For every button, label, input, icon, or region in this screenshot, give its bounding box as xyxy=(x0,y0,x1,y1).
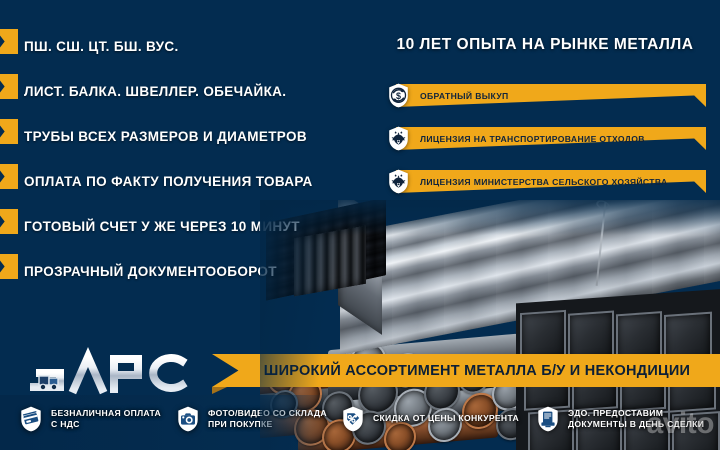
assortment-banner: ШИРОКИЙ АССОРТИМЕНТ МЕТАЛЛА Б/У И НЕКОНД… xyxy=(212,354,720,387)
footer-item-text: ФОТО/ВИДЕО СО СКЛАДА ПРИ ПОКУПКЕ xyxy=(208,408,327,431)
ribbon-marker-icon xyxy=(0,29,18,54)
ribbon-marker-icon xyxy=(0,74,18,99)
list-item: ТРУБЫ ВСЕХ РАЗМЕРОВ И ДИАМЕТРОВ xyxy=(0,114,360,159)
discount-tag-icon xyxy=(340,406,366,432)
feature-bullet-list: ПШ. СШ. ЦТ. БШ. ВУС. ЛИСТ. БАЛКА. ШВЕЛЛЕ… xyxy=(0,24,360,294)
footer-line-1: СКИДКА ОТ ЦЕНЫ КОНКУРЕНТА xyxy=(373,413,519,423)
footer-line-1: ЭДО. ПРЕДОСТАВИМ xyxy=(568,408,663,418)
bullet-label: ПШ. СШ. ЦТ. БШ. ВУС. xyxy=(24,39,179,54)
bullet-label: ГОТОВЫЙ СЧЕТ У ЖЕ ЧЕРЕЗ 10 МИНУТ xyxy=(24,219,300,234)
list-item: ГОТОВЫЙ СЧЕТ У ЖЕ ЧЕРЕЗ 10 МИНУТ xyxy=(0,204,360,249)
ribbon-fold xyxy=(694,193,706,199)
certificate-label: ЛИЦЕНЗИЯ МИНИСТЕРСТВА СЕЛЬСКОГО ХОЗЯЙСТВ… xyxy=(420,177,668,187)
double-headed-eagle-emblem-icon xyxy=(386,126,411,151)
list-item: ОПЛАТА ПО ФАКТУ ПОЛУЧЕНИЯ ТОВАРА xyxy=(0,159,360,204)
footer-line-1: БЕЗНАЛИЧНАЯ ОПЛАТА xyxy=(51,408,161,418)
footer-item-photo-video: ФОТО/ВИДЕО СО СКЛАДА ПРИ ПОКУПКЕ xyxy=(175,406,327,432)
page-title: 10 ЛЕТ ОПЫТА НА РЫНКЕ МЕТАЛЛА xyxy=(380,36,710,54)
footer-item-edoc: ЭДО. ПРЕДОСТАВИМ ДОКУМЕНТЫ В ДЕНЬ СДЕЛКИ xyxy=(535,406,704,432)
double-headed-eagle-emblem-icon xyxy=(386,169,411,194)
ribbon-marker-icon xyxy=(0,164,18,189)
advertisement-banner: ПШ. СШ. ЦТ. БШ. ВУС. ЛИСТ. БАЛКА. ШВЕЛЛЕ… xyxy=(0,0,720,450)
list-item: ПШ. СШ. ЦТ. БШ. ВУС. xyxy=(0,24,360,69)
bullet-label: ЛИСТ. БАЛКА. ШВЕЛЛЕР. ОБЕЧАЙКА. xyxy=(24,84,286,99)
footer-item-text: СКИДКА ОТ ЦЕНЫ КОНКУРЕНТА xyxy=(373,413,519,425)
certificate-badge-agriculture-ministry: ЛИЦЕНЗИЯ МИНИСТЕРСТВА СЕЛЬСКОГО ХОЗЯЙСТВ… xyxy=(386,170,706,193)
footer-benefits: БЕЗНАЛИЧНАЯ ОПЛАТА С НДС ФОТО/ВИДЕО СО С… xyxy=(0,395,720,450)
certificate-badge-waste-transport: ЛИЦЕНЗИЯ НА ТРАНСПОРТИРОВАНИЕ ОТХОДОВ xyxy=(386,127,706,150)
brand-logo: БАРС xyxy=(22,347,194,397)
svg-text:$: $ xyxy=(396,91,401,101)
bullet-label: ОПЛАТА ПО ФАКТУ ПОЛУЧЕНИЯ ТОВАРА xyxy=(24,174,313,189)
ribbon-fold xyxy=(694,150,706,156)
ribbon-marker-icon xyxy=(0,254,18,279)
certificate-badge-list: $ ОБРАТНЫЙ ВЫКУП xyxy=(386,84,706,213)
credit-card-icon xyxy=(18,406,44,432)
ribbon-fold xyxy=(694,107,706,113)
footer-item-competitor-discount: СКИДКА ОТ ЦЕНЫ КОНКУРЕНТА xyxy=(340,406,519,432)
footer-item-text: ЭДО. ПРЕДОСТАВИМ ДОКУМЕНТЫ В ДЕНЬ СДЕЛКИ xyxy=(568,408,704,431)
list-item: ЛИСТ. БАЛКА. ШВЕЛЛЕР. ОБЕЧАЙКА. xyxy=(0,69,360,114)
footer-item-text: БЕЗНАЛИЧНАЯ ОПЛАТА С НДС xyxy=(51,408,161,431)
footer-line-1: ФОТО/ВИДЕО СО СКЛАДА xyxy=(208,408,327,418)
ribbon-marker-icon xyxy=(0,209,18,234)
certificate-badge-buyback: $ ОБРАТНЫЙ ВЫКУП xyxy=(386,84,706,107)
footer-item-cashless-payment: БЕЗНАЛИЧНАЯ ОПЛАТА С НДС xyxy=(18,406,161,432)
buyback-refresh-dollar-icon: $ xyxy=(386,83,411,108)
ribbon-marker-icon xyxy=(0,119,18,144)
footer-line-2: С НДС xyxy=(51,419,80,429)
footer-line-2: ДОКУМЕНТЫ В ДЕНЬ СДЕЛКИ xyxy=(568,419,704,429)
footer-line-2: ПРИ ПОКУПКЕ xyxy=(208,419,273,429)
bullet-label: ПРОЗРАЧНЫЙ ДОКУМЕНТООБОРОТ xyxy=(24,264,277,279)
ribbon-fold xyxy=(212,387,227,394)
edoc-monitor-icon xyxy=(535,406,561,432)
certificate-label: ЛИЦЕНЗИЯ НА ТРАНСПОРТИРОВАНИЕ ОТХОДОВ xyxy=(420,134,645,144)
list-item: ПРОЗРАЧНЫЙ ДОКУМЕНТООБОРОТ xyxy=(0,249,360,294)
bullet-label: ТРУБЫ ВСЕХ РАЗМЕРОВ И ДИАМЕТРОВ xyxy=(24,129,307,144)
certificate-label: ОБРАТНЫЙ ВЫКУП xyxy=(420,91,509,101)
assortment-banner-label: ШИРОКИЙ АССОРТИМЕНТ МЕТАЛЛА Б/У И НЕКОНД… xyxy=(212,354,720,387)
camera-icon xyxy=(175,406,201,432)
